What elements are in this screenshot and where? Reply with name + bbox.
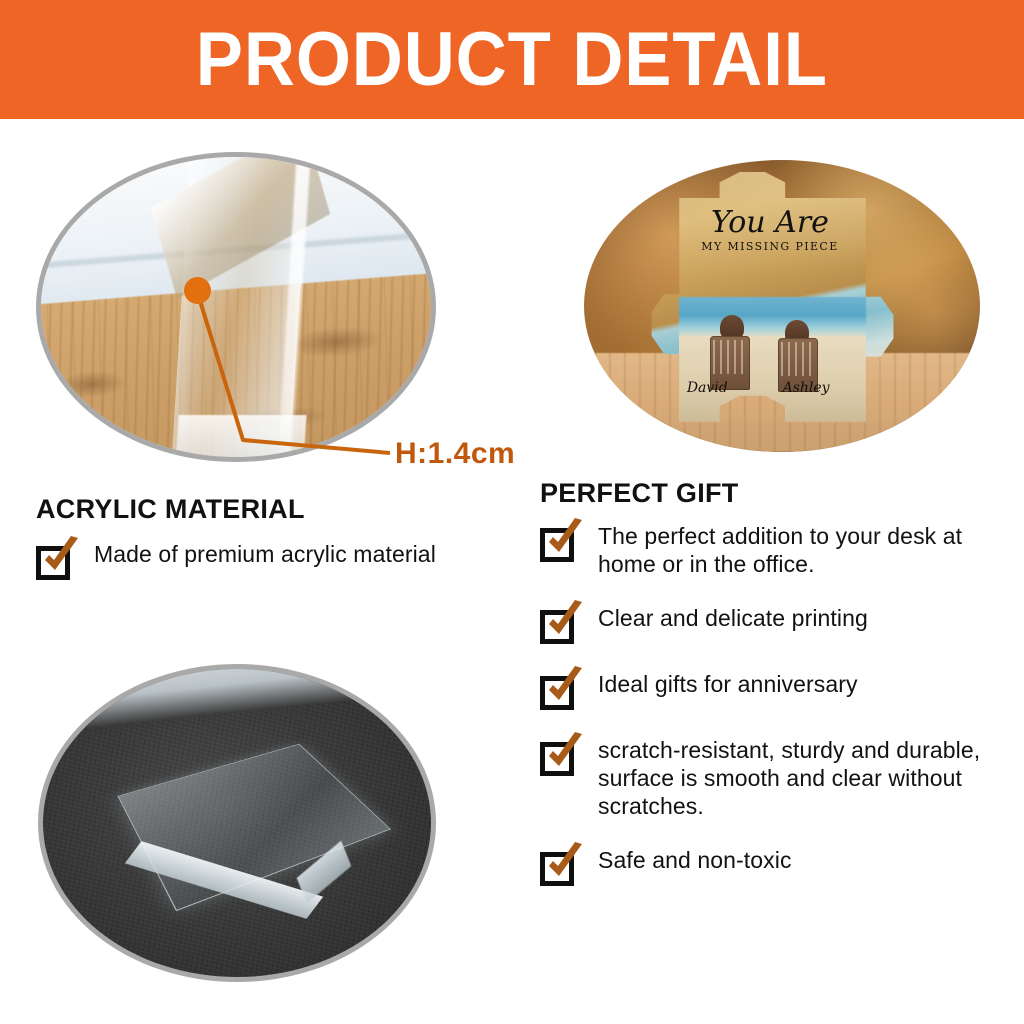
product-photo-block-on-slate: [38, 664, 436, 982]
feature-text: scratch-resistant, sturdy and durable, s…: [598, 736, 1010, 820]
page-title: PRODUCT DETAIL: [196, 22, 828, 98]
checkmark-icon: [36, 542, 74, 580]
list-item: The perfect addition to your desk at hom…: [540, 522, 1010, 578]
feature-list-perfect-gift: The perfect addition to your desk at hom…: [540, 522, 1010, 912]
beach-sand: [679, 336, 865, 422]
product-photo-puzzle-plaque: You Are MY MISSING PIECE David Ashley: [584, 160, 980, 452]
wood-knot: [287, 323, 385, 360]
plaque-name-right: Ashley: [783, 380, 830, 396]
feature-text: Made of premium acrylic material: [94, 540, 436, 568]
checkmark-icon: [540, 524, 578, 562]
feature-text: The perfect addition to your desk at hom…: [598, 522, 1010, 578]
list-item: Safe and non-toxic: [540, 846, 1010, 886]
product-photo-acrylic-edge: [36, 152, 436, 462]
checkmark-icon: [540, 738, 578, 776]
feature-text: Safe and non-toxic: [598, 846, 792, 874]
plaque-name-left: David: [687, 380, 728, 396]
feature-text: Clear and delicate printing: [598, 604, 868, 632]
feature-text: Ideal gifts for anniversary: [598, 670, 858, 698]
plaque-title-subtitle: MY MISSING PIECE: [644, 240, 896, 253]
beach-sea: [679, 297, 865, 339]
list-item: Clear and delicate printing: [540, 604, 1010, 644]
checkmark-icon: [540, 672, 578, 710]
puzzle-piece-plaque: You Are MY MISSING PIECE David Ashley: [644, 172, 896, 432]
section-heading-acrylic-material: ACRYLIC MATERIAL: [36, 494, 305, 525]
checkmark-icon: [540, 606, 578, 644]
callout-dot: [184, 277, 211, 304]
section-heading-perfect-gift: PERFECT GIFT: [540, 478, 739, 509]
acrylic-base-reflection: [175, 415, 306, 462]
list-item: Ideal gifts for anniversary: [540, 670, 1010, 710]
list-item: Made of premium acrylic material: [36, 540, 516, 580]
list-item: scratch-resistant, sturdy and durable, s…: [540, 736, 1010, 820]
checkmark-icon: [540, 848, 578, 886]
wood-knot: [56, 369, 128, 400]
plaque-title-script: You Are: [644, 208, 896, 238]
header-banner: PRODUCT DETAIL: [0, 0, 1024, 119]
feature-list-acrylic-material: Made of premium acrylic material: [36, 540, 516, 606]
dimension-label: H:1.4cm: [395, 437, 515, 471]
